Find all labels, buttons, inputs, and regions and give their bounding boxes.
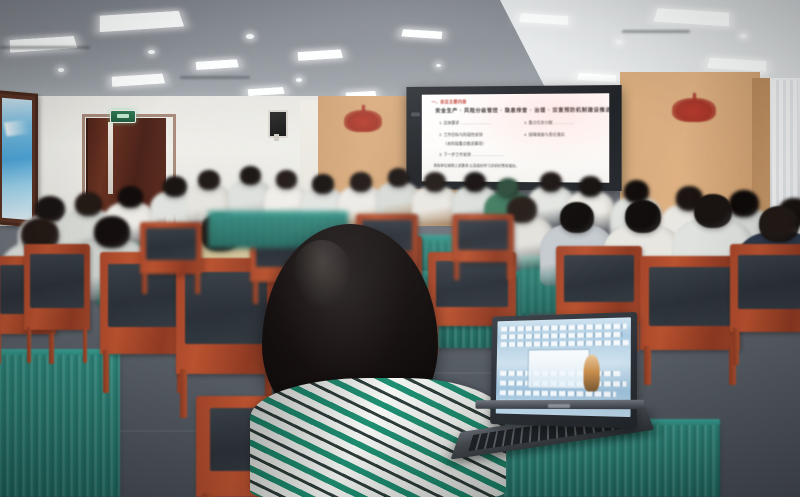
slide-heading: 一、会议主要内容 <box>431 99 466 105</box>
chair-backrest-pad <box>738 255 800 310</box>
speaker-mount <box>274 134 279 141</box>
draped-table <box>0 352 120 497</box>
slide-bullet: 2. 工作目标与阶段性安排 <box>439 132 482 138</box>
audience-member-head <box>625 200 661 233</box>
chair-backrest-pad <box>146 228 197 260</box>
audience-member-head <box>350 172 372 192</box>
ceiling-downlight <box>58 68 64 72</box>
slide-bullet: 1. 总体要求 …………………… <box>439 120 491 126</box>
audience-member-head <box>540 172 562 192</box>
chair-leg <box>195 272 199 294</box>
chair-leg <box>83 327 88 363</box>
conference-chair[interactable] <box>428 252 516 326</box>
slide-subheading: 安全生产 · 风险分级管控 · 隐患排查 · 治理 · 双重预防机制建设推进 <box>435 106 609 114</box>
audience-member-head <box>579 176 602 197</box>
door-gap <box>108 122 113 194</box>
chair-backrest-pad <box>458 220 509 250</box>
audience-member-head <box>163 176 187 197</box>
ceiling-seam <box>622 30 690 33</box>
audience-member-head <box>240 166 261 185</box>
laptop-dialog-window[interactable] <box>527 349 589 390</box>
chair-backrest-pad <box>436 261 508 307</box>
audience-member-head <box>118 186 143 208</box>
audience-member-head <box>759 206 799 242</box>
ceiling-seam <box>180 76 250 79</box>
conference-chair[interactable] <box>140 222 202 274</box>
laptop-figure-graphic <box>583 355 599 392</box>
audience-member-head <box>424 172 446 192</box>
slide-bullet: 4. 保障措施与责任落实 <box>524 132 565 138</box>
chair-leg <box>202 493 213 497</box>
ceiling-downlight <box>436 64 441 67</box>
laptop-brand-badge <box>548 404 570 408</box>
audience-member-head <box>94 216 130 248</box>
chair-leg <box>103 350 109 393</box>
slide-bullet: 3. 下一步工作安排 …………………… <box>439 152 503 158</box>
audience-member-head <box>312 174 334 194</box>
table-top <box>208 211 348 217</box>
chair-leg <box>454 260 458 280</box>
ceiling-downlight <box>616 40 622 44</box>
conference-chair[interactable] <box>24 244 90 330</box>
chair-leg <box>733 328 739 365</box>
projected-slide: 一、会议主要内容 安全生产 · 风险分级管控 · 隐患排查 · 治理 · 双重预… <box>422 93 609 182</box>
conference-chair[interactable] <box>556 246 642 322</box>
audience-member-head <box>276 170 297 189</box>
conference-room-photo: 一、会议主要内容 安全生产 · 风险分级管控 · 隐患排查 · 治理 · 双重预… <box>0 0 800 497</box>
conference-chair[interactable] <box>730 244 800 332</box>
exit-sign-icon <box>110 110 136 123</box>
ceiling-seam <box>0 46 90 49</box>
conference-chair[interactable] <box>640 256 740 350</box>
display-logo <box>411 112 420 116</box>
slide-bullet: （本阶段重点推进事项） <box>443 141 486 147</box>
audience-member-head <box>75 192 102 216</box>
ceiling-downlight <box>246 34 254 39</box>
ceiling-downlight <box>296 78 302 82</box>
audience-member-head <box>198 170 220 190</box>
audience-member-head <box>464 172 486 192</box>
chair-leg <box>507 260 511 280</box>
chair-backrest-pad <box>30 254 84 307</box>
laptop-lid[interactable] <box>490 312 637 429</box>
chair-leg <box>253 280 258 304</box>
hair-highlight <box>292 240 352 310</box>
audience-member-head <box>497 178 519 198</box>
national-emblem-icon <box>344 110 382 132</box>
slide-footer: 请各单位按照上述要求,认真组织学习并抓好贯彻落实。 <box>433 164 519 169</box>
chair-leg <box>0 331 1 364</box>
slide-bullet: 3. 重点任务分解 …………… <box>524 120 574 126</box>
audience-member-head <box>694 194 732 228</box>
conference-chair[interactable] <box>452 214 514 262</box>
chair-leg <box>142 272 146 294</box>
chair-leg <box>27 327 32 363</box>
chair-leg <box>180 369 187 418</box>
chair-leg <box>644 346 651 385</box>
chair-leg <box>49 331 53 364</box>
chair-backrest-pad <box>649 267 731 325</box>
chair-backrest-pad <box>564 255 635 302</box>
audience-member-head <box>560 202 594 233</box>
audience-member-head <box>388 168 409 187</box>
national-emblem-icon <box>672 98 716 122</box>
